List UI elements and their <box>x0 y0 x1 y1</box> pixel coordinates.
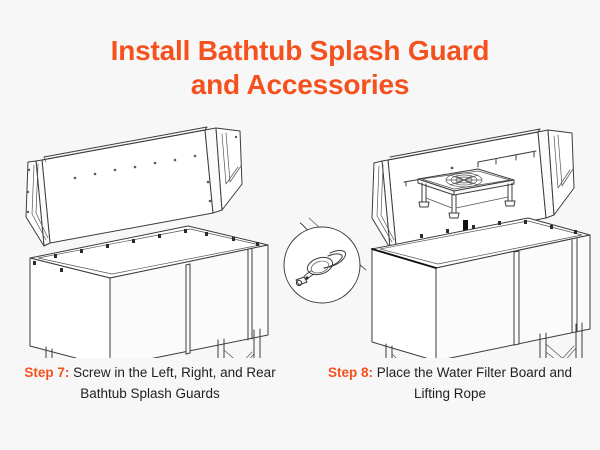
illustration-step-8 <box>300 118 600 358</box>
filter-board-mesh-grate <box>446 173 482 187</box>
step-8-text: Place the Water Filter Board and Lifting… <box>373 365 572 401</box>
step-7-label: Step 7: <box>24 365 69 380</box>
step-8-label: Step 8: <box>328 365 373 380</box>
callout-leader-line <box>309 218 366 270</box>
page-title: Install Bathtub Splash Guard and Accesso… <box>0 34 600 102</box>
bathtub-basin <box>30 226 268 358</box>
caption-step-7: Step 7: Screw in the Left, Right, and Re… <box>10 362 290 404</box>
illustration-row <box>0 118 600 358</box>
title-line-2: and Accessories <box>0 68 600 102</box>
step-7-text: Screw in the Left, Right, and Rear Batht… <box>69 365 275 401</box>
instruction-sheet: Install Bathtub Splash Guard and Accesso… <box>0 0 600 450</box>
lifting-rope-callout-circle <box>300 213 317 303</box>
caption-row: Step 7: Screw in the Left, Right, and Re… <box>0 362 600 422</box>
title-line-1: Install Bathtub Splash Guard <box>111 35 490 66</box>
rear-splash-guard-panel <box>42 127 213 243</box>
illustration-step-7 <box>0 118 300 358</box>
caption-step-8: Step 8: Place the Water Filter Board and… <box>310 362 590 404</box>
